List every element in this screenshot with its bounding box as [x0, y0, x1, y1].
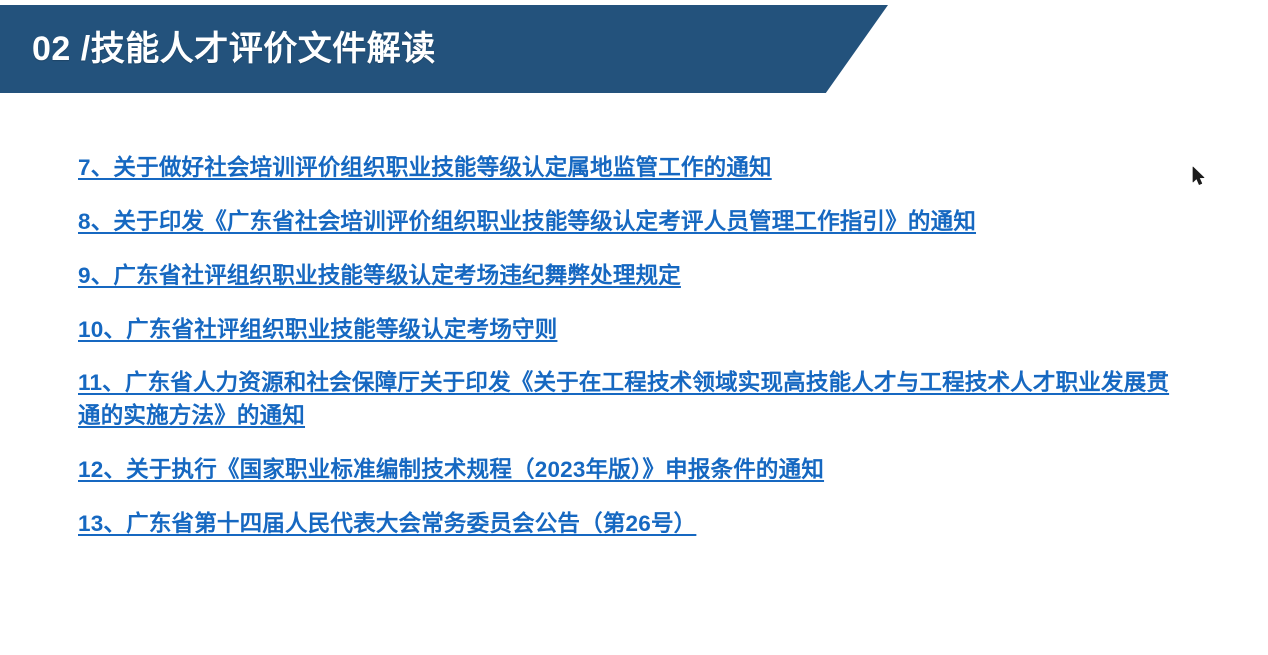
- document-link-12[interactable]: 12、关于执行《国家职业标准编制技术规程（2023年版）》申报条件的通知: [78, 454, 1188, 487]
- slide-header-banner-inner: 02 /技能人才评价文件解读: [0, 5, 888, 93]
- document-link-10[interactable]: 10、广东省社评组织职业技能等级认定考场守则: [78, 314, 1188, 347]
- slide-header-banner: 02 /技能人才评价文件解读: [0, 5, 888, 93]
- page-title: 02 /技能人才评价文件解读: [32, 32, 436, 66]
- document-link-13[interactable]: 13、广东省第十四届人民代表大会常务委员会公告（第26号）: [78, 508, 1188, 541]
- document-link-list: 7、关于做好社会培训评价组织职业技能等级认定属地监管工作的通知 8、关于印发《广…: [78, 152, 1188, 541]
- document-link-7[interactable]: 7、关于做好社会培训评价组织职业技能等级认定属地监管工作的通知: [78, 152, 1188, 185]
- document-link-9[interactable]: 9、广东省社评组织职业技能等级认定考场违纪舞弊处理规定: [78, 260, 1188, 293]
- corner-logo: GCMI: [1116, 651, 1262, 655]
- document-link-8[interactable]: 8、关于印发《广东省社会培训评价组织职业技能等级认定考评人员管理工作指引》的通知: [78, 206, 1188, 239]
- document-link-11[interactable]: 11、广东省人力资源和社会保障厅关于印发《关于在工程技术领域实现高技能人才与工程…: [78, 367, 1186, 433]
- presentation-slide: 02 /技能人才评价文件解读 7、关于做好社会培训评价组织职业技能等级认定属地监…: [0, 0, 1268, 655]
- mouse-pointer-icon: [1192, 166, 1206, 186]
